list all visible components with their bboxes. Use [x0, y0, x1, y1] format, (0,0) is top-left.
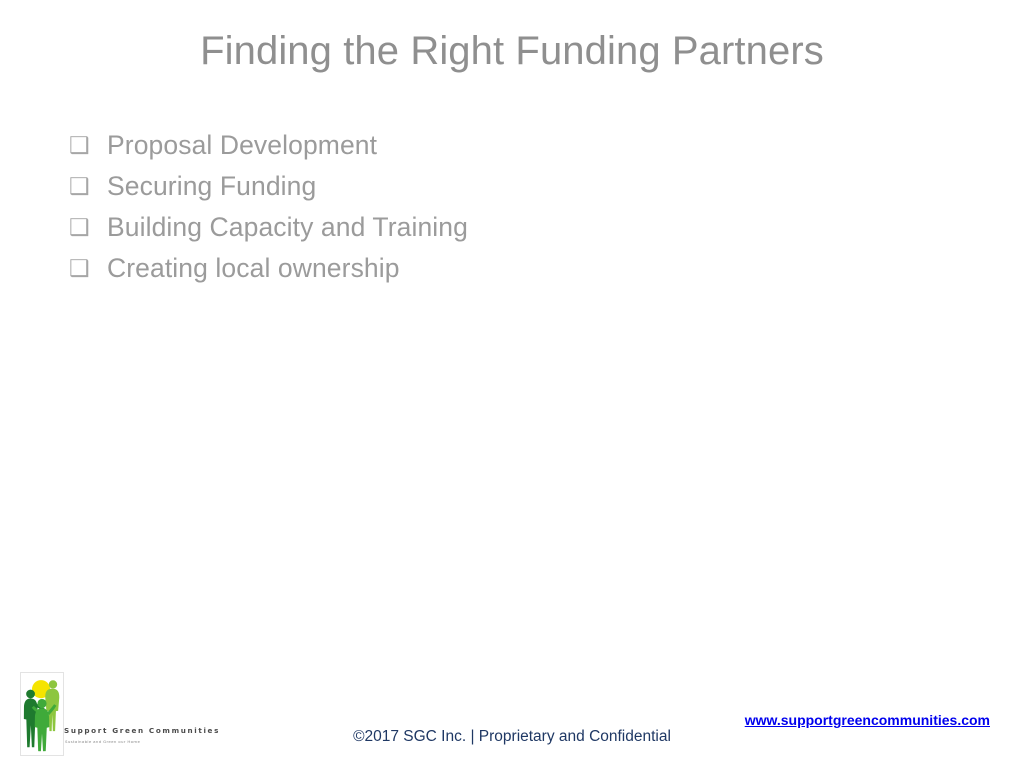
- list-item: ❑ Building Capacity and Training: [64, 214, 944, 255]
- website-link[interactable]: www.supportgreencommunities.com: [745, 712, 990, 728]
- hollow-square-bullet-icon: ❑: [64, 175, 107, 198]
- list-item-label: Creating local ownership: [107, 255, 944, 282]
- slide-title: Finding the Right Funding Partners: [0, 28, 1024, 74]
- list-item: ❑ Creating local ownership: [64, 255, 944, 296]
- list-item-label: Securing Funding: [107, 173, 944, 200]
- company-logo: Support Green Communities Sustainable an…: [18, 668, 208, 760]
- presentation-slide: Finding the Right Funding Partners ❑ Pro…: [0, 0, 1024, 768]
- website-link-container: www.supportgreencommunities.com: [745, 712, 990, 730]
- list-item-label: Building Capacity and Training: [107, 214, 944, 241]
- slide-footer: Support Green Communities Sustainable an…: [0, 668, 1024, 768]
- copyright-notice: ©2017 SGC Inc. | Proprietary and Confide…: [0, 729, 1024, 745]
- list-item: ❑ Proposal Development: [64, 132, 944, 173]
- hollow-square-bullet-icon: ❑: [64, 134, 107, 157]
- hollow-square-bullet-icon: ❑: [64, 257, 107, 280]
- bullet-list: ❑ Proposal Development ❑ Securing Fundin…: [64, 132, 944, 296]
- list-item: ❑ Securing Funding: [64, 173, 944, 214]
- list-item-label: Proposal Development: [107, 132, 944, 159]
- hollow-square-bullet-icon: ❑: [64, 216, 107, 239]
